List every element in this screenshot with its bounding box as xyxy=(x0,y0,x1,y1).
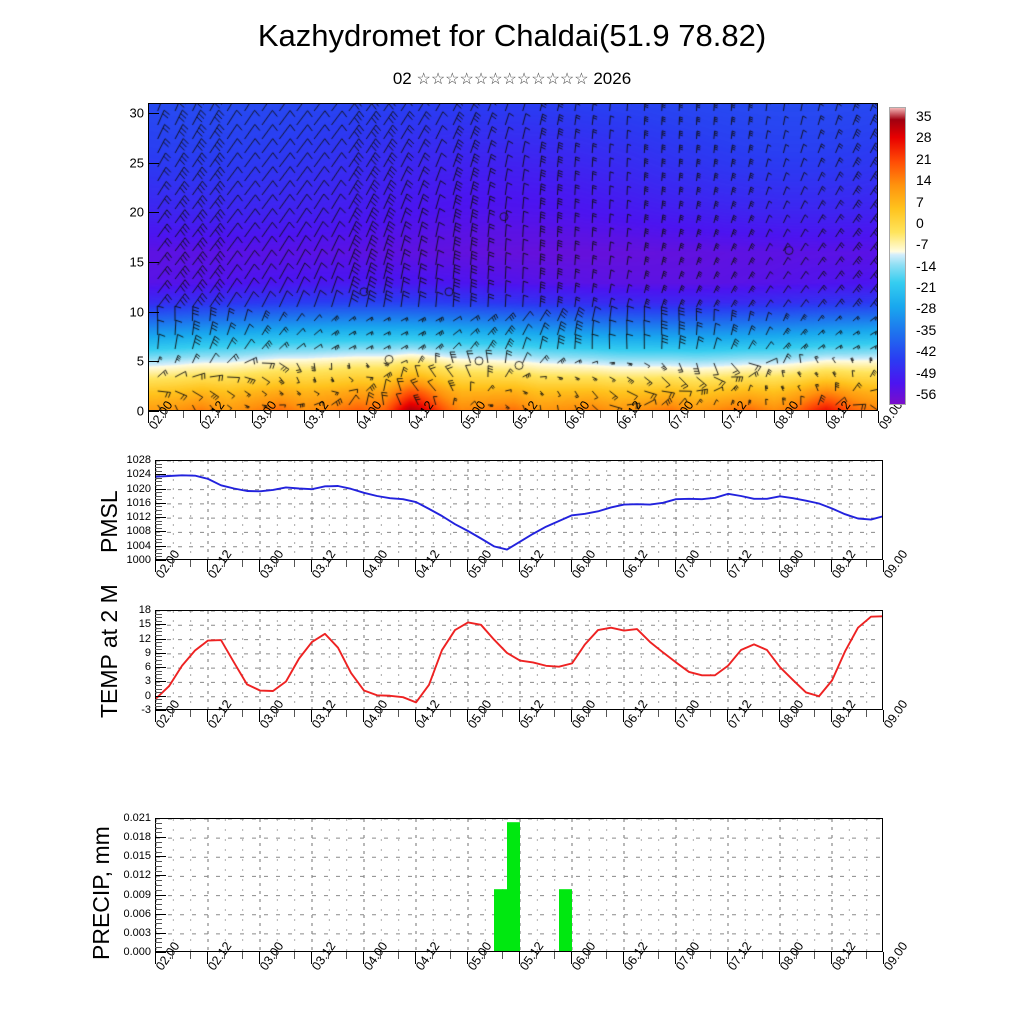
colorbar-tick-label: -21 xyxy=(916,279,936,295)
precip-x-minor-tick xyxy=(640,952,641,959)
pmsl-panel[interactable] xyxy=(155,460,883,560)
pmsl-x-minor-tick xyxy=(294,560,295,567)
pmsl-y-minor-tick xyxy=(155,510,162,511)
temp-y-tick xyxy=(155,639,166,640)
temp-y-minor-tick xyxy=(155,642,162,643)
temp-y-minor-tick xyxy=(155,649,162,650)
temp-x-minor-tick xyxy=(484,710,485,717)
temp-x-minor-tick xyxy=(328,710,329,717)
temperature-colorbar[interactable] xyxy=(889,107,906,405)
temp-y-minor-tick xyxy=(155,631,162,632)
pmsl-x-label: 09.00 xyxy=(881,547,910,581)
pmsl-x-minor-tick xyxy=(484,560,485,567)
cross-section-x-minor-tick xyxy=(270,411,271,418)
temp-y-minor-tick xyxy=(155,671,162,672)
cross-section-y-tick xyxy=(148,262,159,263)
colorbar-tick-label: 35 xyxy=(916,108,932,124)
precip-x-minor-tick xyxy=(502,952,503,959)
colorbar-tick-label: -7 xyxy=(916,236,928,252)
temp-curve xyxy=(156,611,883,710)
pmsl-y-label: 1000 xyxy=(81,554,151,566)
cross-section-y-label: 30 xyxy=(74,105,144,120)
pmsl-curve xyxy=(156,461,883,560)
precip-x-minor-tick xyxy=(172,952,173,959)
cross-section-x-minor-tick xyxy=(339,411,340,418)
pmsl-y-tick xyxy=(155,531,166,532)
pmsl-x-minor-tick xyxy=(554,560,555,567)
precip-x-minor-tick xyxy=(294,952,295,959)
temp-x-minor-tick xyxy=(710,710,711,717)
precip-y-minor-tick xyxy=(155,861,162,862)
cross-section-x-minor-tick xyxy=(808,411,809,418)
pmsl-y-label: 1024 xyxy=(81,468,151,480)
temp-x-minor-tick xyxy=(866,710,867,717)
pmsl-y-minor-tick xyxy=(155,478,162,479)
temp-y-minor-tick xyxy=(155,706,162,707)
pmsl-ylabel: PMSL xyxy=(96,490,123,553)
cross-section-y-label: 0 xyxy=(74,404,144,419)
pmsl-y-minor-tick xyxy=(155,467,162,468)
cross-section-x-minor-tick xyxy=(374,411,375,418)
precip-y-minor-tick xyxy=(155,823,162,824)
colorbar-tick-label: 21 xyxy=(916,151,932,167)
colorbar-tick-label: -35 xyxy=(916,322,936,338)
precip-panel[interactable] xyxy=(155,818,883,952)
upper-air-cross-section-panel[interactable] xyxy=(148,103,878,411)
precip-y-minor-tick xyxy=(155,909,162,910)
pmsl-x-minor-tick xyxy=(762,560,763,567)
pmsl-x-minor-tick xyxy=(848,560,849,567)
temp-x-minor-tick xyxy=(606,710,607,717)
cross-section-x-minor-tick xyxy=(635,411,636,418)
cross-section-x-minor-tick xyxy=(426,411,427,418)
cross-section-x-minor-tick xyxy=(687,411,688,418)
temp-y-minor-tick xyxy=(155,628,162,629)
temp-y-minor-tick xyxy=(155,646,162,647)
cross-section-x-minor-tick xyxy=(652,411,653,418)
temp-y-minor-tick xyxy=(155,617,162,618)
temp-y-minor-tick xyxy=(155,689,162,690)
cross-section-y-tick xyxy=(148,212,159,213)
precip-x-minor-tick xyxy=(866,952,867,959)
cross-section-x-minor-tick xyxy=(791,411,792,418)
pmsl-y-minor-tick xyxy=(155,471,162,472)
pmsl-y-minor-tick xyxy=(155,492,162,493)
temp-y-tick xyxy=(155,696,166,697)
pmsl-y-minor-tick xyxy=(155,528,162,529)
temp-y-minor-tick xyxy=(155,621,162,622)
temp-y-tick xyxy=(155,653,166,654)
temp-x-minor-tick xyxy=(554,710,555,717)
cross-section-x-minor-tick xyxy=(287,411,288,418)
pmsl-x-minor-tick xyxy=(224,560,225,567)
precip-y-minor-tick xyxy=(155,899,162,900)
subtitle-year: 2026 xyxy=(593,69,631,88)
temp-y-minor-tick xyxy=(155,635,162,636)
pmsl-y-tick xyxy=(155,503,166,504)
precip-x-minor-tick xyxy=(484,952,485,959)
temp-y-minor-tick xyxy=(155,660,162,661)
cross-section-y-label: 15 xyxy=(74,254,144,269)
temp-y-minor-tick xyxy=(155,699,162,700)
pmsl-y-minor-tick xyxy=(155,521,162,522)
temp-x-minor-tick xyxy=(796,710,797,717)
temp-x-minor-tick xyxy=(276,710,277,717)
temp-ylabel: TEMP at 2 M xyxy=(96,584,123,718)
cross-section-canvas xyxy=(149,104,878,411)
temp-y-minor-tick xyxy=(155,685,162,686)
precip-x-minor-tick xyxy=(224,952,225,959)
pmsl-x-minor-tick xyxy=(536,560,537,567)
temp-x-minor-tick xyxy=(744,710,745,717)
cross-section-x-minor-tick xyxy=(530,411,531,418)
cross-section-x-minor-tick xyxy=(756,411,757,418)
precip-x-minor-tick xyxy=(242,952,243,959)
pmsl-y-minor-tick xyxy=(155,496,162,497)
cross-section-x-minor-tick xyxy=(443,411,444,418)
pmsl-y-tick xyxy=(155,546,166,547)
temp-x-minor-tick xyxy=(190,710,191,717)
pmsl-y-tick xyxy=(155,460,166,461)
pmsl-y-minor-tick xyxy=(155,514,162,515)
cross-section-x-minor-tick xyxy=(704,411,705,418)
forecast-page: Kazhydromet for Chaldai(51.9 78.82) 02 ☆… xyxy=(0,0,1024,1024)
cross-section-y-label: 25 xyxy=(74,155,144,170)
cross-section-x-minor-tick xyxy=(218,411,219,418)
precip-bar[interactable] xyxy=(559,889,572,952)
temp-y-tick xyxy=(155,681,166,682)
precip-x-minor-tick xyxy=(346,952,347,959)
pmsl-y-tick xyxy=(155,474,166,475)
precip-x-minor-tick xyxy=(606,952,607,959)
precip-y-tick xyxy=(155,856,166,857)
precip-y-minor-tick xyxy=(155,828,162,829)
precip-y-minor-tick xyxy=(155,832,162,833)
precip-x-minor-tick xyxy=(814,952,815,959)
precip-bar[interactable] xyxy=(494,889,507,952)
page-title: Kazhydromet for Chaldai(51.9 78.82) xyxy=(0,18,1024,54)
precip-x-minor-tick xyxy=(658,952,659,959)
colorbar-tick-label: 14 xyxy=(916,172,932,188)
cross-section-x-minor-tick xyxy=(478,411,479,418)
temp-x-minor-tick xyxy=(450,710,451,717)
pmsl-x-minor-tick xyxy=(588,560,589,567)
cross-section-x-minor-tick xyxy=(739,411,740,418)
precip-y-minor-tick xyxy=(155,904,162,905)
precip-y-minor-tick xyxy=(155,871,162,872)
precip-x-minor-tick xyxy=(588,952,589,959)
cross-section-x-minor-tick xyxy=(391,411,392,418)
precip-bars[interactable] xyxy=(156,819,883,952)
precip-x-minor-tick xyxy=(554,952,555,959)
pmsl-x-minor-tick xyxy=(328,560,329,567)
temp-x-minor-tick xyxy=(762,710,763,717)
precip-bar[interactable] xyxy=(507,822,520,952)
pmsl-y-tick xyxy=(155,517,166,518)
pmsl-x-minor-tick xyxy=(346,560,347,567)
precip-y-minor-tick xyxy=(155,885,162,886)
pmsl-y-minor-tick xyxy=(155,481,162,482)
pmsl-x-minor-tick xyxy=(190,560,191,567)
temp-x-minor-tick xyxy=(242,710,243,717)
cross-section-y-label: 10 xyxy=(74,304,144,319)
temp-y-minor-tick xyxy=(155,674,162,675)
precip-y-tick xyxy=(155,875,166,876)
precip-y-minor-tick xyxy=(155,938,162,939)
cross-section-x-minor-tick xyxy=(165,411,166,418)
precip-y-minor-tick xyxy=(155,880,162,881)
precip-x-minor-tick xyxy=(762,952,763,959)
temp-y-tick xyxy=(155,624,166,625)
pmsl-x-minor-tick xyxy=(692,560,693,567)
pmsl-y-minor-tick xyxy=(155,506,162,507)
precip-x-minor-tick xyxy=(380,952,381,959)
cross-section-x-minor-tick xyxy=(322,411,323,418)
pmsl-y-minor-tick xyxy=(155,556,162,557)
precip-x-minor-tick xyxy=(744,952,745,959)
cross-section-y-tick xyxy=(148,163,159,164)
cross-section-x-minor-tick xyxy=(548,411,549,418)
temp-x-minor-tick xyxy=(692,710,693,717)
temp-x-minor-tick xyxy=(294,710,295,717)
precip-y-minor-tick xyxy=(155,923,162,924)
pmsl-x-minor-tick xyxy=(744,560,745,567)
cross-section-y-tick xyxy=(148,312,159,313)
pmsl-x-minor-tick xyxy=(658,560,659,567)
cross-section-x-minor-tick xyxy=(583,411,584,418)
pmsl-x-minor-tick xyxy=(866,560,867,567)
precip-x-minor-tick xyxy=(398,952,399,959)
temp-x-minor-tick xyxy=(224,710,225,717)
precip-x-minor-tick xyxy=(276,952,277,959)
pmsl-x-minor-tick xyxy=(398,560,399,567)
temp-x-minor-tick xyxy=(588,710,589,717)
temp-x-minor-tick xyxy=(640,710,641,717)
pmsl-y-minor-tick xyxy=(155,485,162,486)
pmsl-x-minor-tick xyxy=(814,560,815,567)
temp-x-minor-tick xyxy=(346,710,347,717)
temp-x-label: 09.00 xyxy=(881,697,910,731)
colorbar-tick-label: 7 xyxy=(916,194,924,210)
precip-y-label: 0.021 xyxy=(81,812,151,824)
precip-x-minor-tick xyxy=(848,952,849,959)
pmsl-x-minor-tick xyxy=(606,560,607,567)
pmsl-y-minor-tick xyxy=(155,535,162,536)
colorbar-tick-label: -49 xyxy=(916,365,936,381)
precip-y-minor-tick xyxy=(155,847,162,848)
temp-y-minor-tick xyxy=(155,664,162,665)
temp-y-minor-tick xyxy=(155,692,162,693)
pmsl-x-minor-tick xyxy=(172,560,173,567)
colorbar-tick-label: -42 xyxy=(916,343,936,359)
colorbar-tick-label: -28 xyxy=(916,300,936,316)
cross-section-y-label: 20 xyxy=(74,205,144,220)
temp-x-minor-tick xyxy=(432,710,433,717)
pmsl-x-minor-tick xyxy=(432,560,433,567)
cross-section-x-minor-tick xyxy=(235,411,236,418)
precip-x-minor-tick xyxy=(328,952,329,959)
pmsl-y-minor-tick xyxy=(155,549,162,550)
precip-y-minor-tick xyxy=(155,947,162,948)
pmsl-x-minor-tick xyxy=(380,560,381,567)
colorbar-tick-label: -56 xyxy=(916,386,936,402)
pmsl-y-label: 1028 xyxy=(81,454,151,466)
precip-x-minor-tick xyxy=(796,952,797,959)
pmsl-x-minor-tick xyxy=(450,560,451,567)
temp-y-tick xyxy=(155,610,166,611)
precip-x-minor-tick xyxy=(190,952,191,959)
pmsl-y-minor-tick xyxy=(155,553,162,554)
pmsl-x-minor-tick xyxy=(276,560,277,567)
cross-section-x-minor-tick xyxy=(861,411,862,418)
cross-section-x-minor-tick xyxy=(843,411,844,418)
pmsl-y-minor-tick xyxy=(155,464,162,465)
precip-y-minor-tick xyxy=(155,866,162,867)
colorbar-tick-label: 28 xyxy=(916,129,932,145)
temp-y-minor-tick xyxy=(155,614,162,615)
precip-y-minor-tick xyxy=(155,890,162,891)
pmsl-y-tick xyxy=(155,489,166,490)
pmsl-x-minor-tick xyxy=(710,560,711,567)
colorbar-tick-label: 0 xyxy=(916,215,924,231)
pmsl-x-minor-tick xyxy=(640,560,641,567)
pmsl-x-minor-tick xyxy=(796,560,797,567)
subtitle-day: 02 xyxy=(393,69,412,88)
date-subtitle: 02 ☆☆☆☆☆☆☆☆☆☆☆☆ 2026 xyxy=(0,69,1024,89)
temp-x-minor-tick xyxy=(536,710,537,717)
pmsl-x-minor-tick xyxy=(502,560,503,567)
precip-x-label: 09.00 xyxy=(881,939,910,973)
precip-y-tick xyxy=(155,933,166,934)
temp-x-minor-tick xyxy=(398,710,399,717)
temp-y-minor-tick xyxy=(155,703,162,704)
precip-y-tick xyxy=(155,818,166,819)
pmsl-y-minor-tick xyxy=(155,499,162,500)
cross-section-y-tick xyxy=(148,113,159,114)
precip-y-tick xyxy=(155,914,166,915)
pmsl-y-minor-tick xyxy=(155,539,162,540)
precip-x-minor-tick xyxy=(710,952,711,959)
cross-section-x-minor-tick xyxy=(600,411,601,418)
precip-y-minor-tick xyxy=(155,852,162,853)
precip-x-minor-tick xyxy=(432,952,433,959)
subtitle-month-glyphs: ☆☆☆☆☆☆☆☆☆☆☆☆ xyxy=(416,71,588,88)
precip-y-tick xyxy=(155,837,166,838)
precip-y-minor-tick xyxy=(155,942,162,943)
precip-x-minor-tick xyxy=(450,952,451,959)
precip-x-minor-tick xyxy=(536,952,537,959)
temp-x-minor-tick xyxy=(658,710,659,717)
cross-section-x-minor-tick xyxy=(496,411,497,418)
temp-y-tick xyxy=(155,667,166,668)
precip-x-minor-tick xyxy=(692,952,693,959)
precip-y-minor-tick xyxy=(155,919,162,920)
cross-section-x-minor-tick xyxy=(183,411,184,418)
pmsl-y-minor-tick xyxy=(155,524,162,525)
temp-x-minor-tick xyxy=(848,710,849,717)
temp-y-minor-tick xyxy=(155,678,162,679)
precip-ylabel: PRECIP, mm xyxy=(88,826,115,960)
cross-section-y-tick xyxy=(148,361,159,362)
precip-y-minor-tick xyxy=(155,928,162,929)
temp-y-minor-tick xyxy=(155,656,162,657)
temp-2m-panel[interactable] xyxy=(155,610,883,710)
temp-x-minor-tick xyxy=(380,710,381,717)
precip-y-minor-tick xyxy=(155,842,162,843)
temp-x-minor-tick xyxy=(172,710,173,717)
pmsl-x-minor-tick xyxy=(242,560,243,567)
temp-x-minor-tick xyxy=(502,710,503,717)
cross-section-y-label: 5 xyxy=(74,354,144,369)
colorbar-tick-label: -14 xyxy=(916,258,936,274)
precip-y-tick xyxy=(155,895,166,896)
pmsl-y-minor-tick xyxy=(155,542,162,543)
temp-x-minor-tick xyxy=(814,710,815,717)
